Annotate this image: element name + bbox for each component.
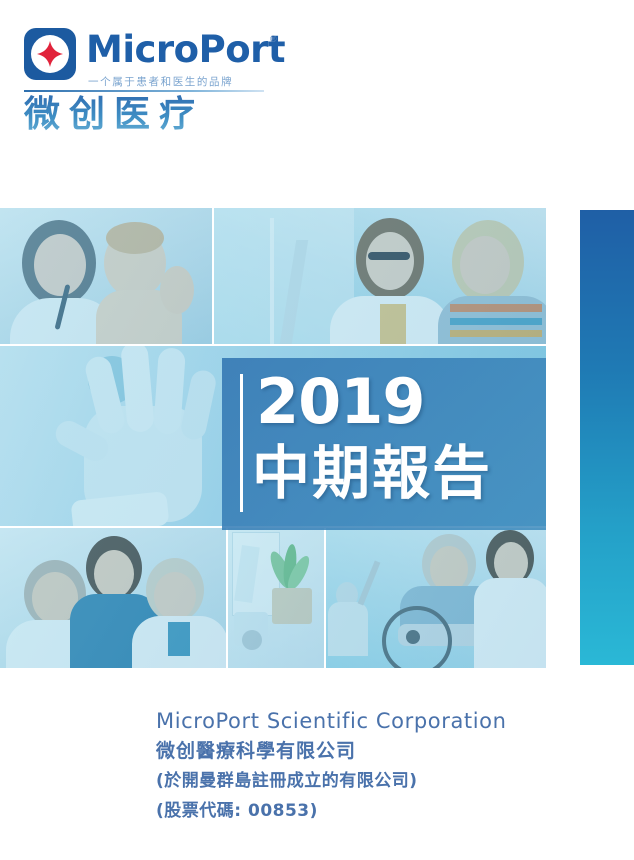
cover-strip-bottom [0,528,546,668]
photo-elderly-patient-with-caregivers [0,528,226,668]
title-accent-rule [240,374,243,512]
logo-chinese-name: 微创医疗 [24,92,204,138]
photo-medical-equipment-room [228,528,324,668]
stock-code: (股票代碼: 00853) [156,796,556,826]
registered-trademark-icon: ® [270,34,277,44]
photo-wheelchair-patient-with-nurse [326,528,546,668]
logo-red-star-icon [37,41,63,67]
right-accent-bar [580,210,634,665]
logo-wordmark: MicroPort [86,30,285,70]
logo-tagline: 一个属于患者和医生的品牌 [88,74,233,89]
cover-strip-top [0,208,546,344]
company-name-english: MicroPort Scientific Corporation [156,706,556,736]
company-logo: MicroPort ® 一个属于患者和医生的品牌 微创医疗 [24,20,284,120]
company-name-chinese: 微创醫療科學有限公司 [156,736,556,766]
microport-diamond-icon [24,28,76,80]
footer-company-block: MicroPort Scientific Corporation 微创醫療科學有… [156,706,556,826]
incorporation-note: (於開曼群島註冊成立的有限公司) [156,766,556,796]
photo-doctor-with-baby [0,208,212,344]
report-year: 2019 [256,366,425,438]
photo-doctor-consulting-patient [214,208,546,344]
cover-collage: 2019 中期報告 [0,208,546,668]
report-title-chinese: 中期報告 [252,438,492,508]
report-title-panel: 2019 中期報告 [222,358,546,530]
